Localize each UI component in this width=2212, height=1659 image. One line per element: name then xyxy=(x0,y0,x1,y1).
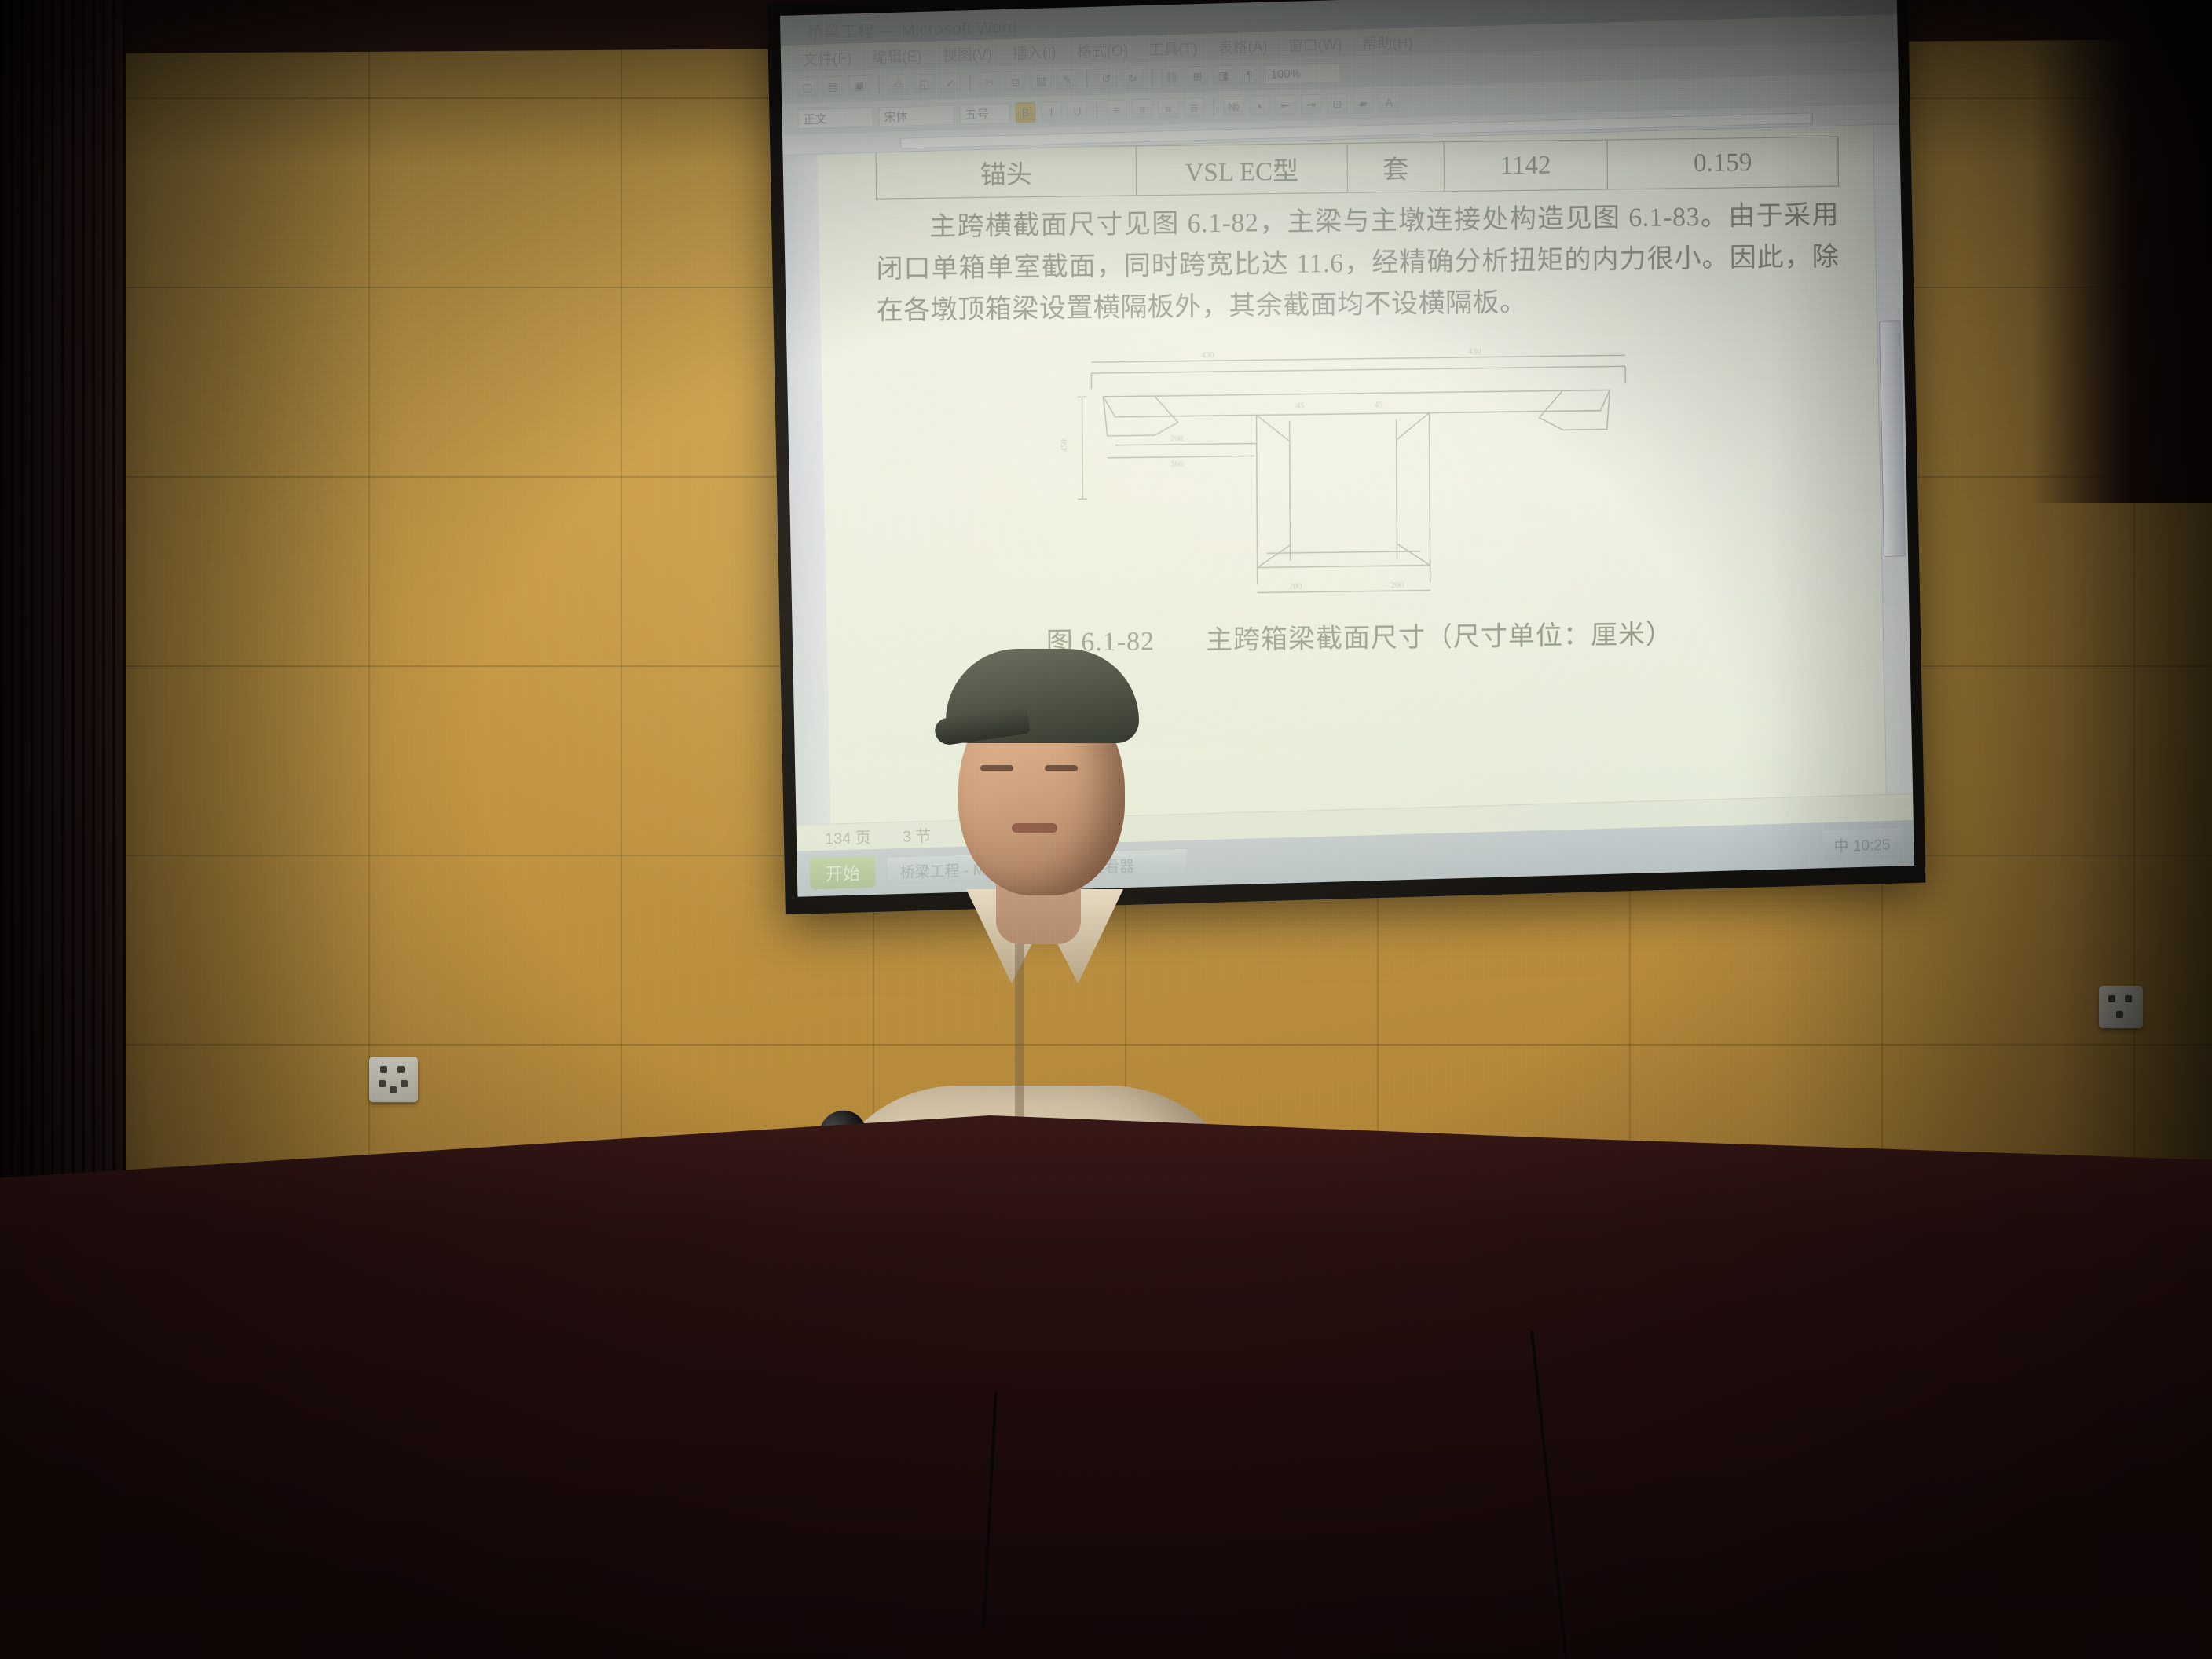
presenter-eye-right xyxy=(1045,765,1078,771)
paragraph-style-combo[interactable]: 正文 xyxy=(797,107,873,129)
numbered-list-icon[interactable]: № xyxy=(1223,96,1244,117)
box-girder-cross-section-figure: 430 430 200 360 200 200 450 45 45 xyxy=(944,333,1774,611)
caption-spacer xyxy=(1163,650,1199,650)
toolbar-separator-5 xyxy=(1096,102,1097,119)
menu-item-window[interactable]: 窗口(W) xyxy=(1287,32,1342,55)
toolbar-separator-6 xyxy=(1213,99,1214,116)
redo-icon[interactable]: ↻ xyxy=(1122,68,1143,89)
align-center-icon[interactable]: ≡ xyxy=(1132,99,1153,120)
svg-text:360: 360 xyxy=(1170,460,1184,469)
left-wood-pillar xyxy=(0,0,126,1257)
table-cell-item: 锚头 xyxy=(876,146,1136,199)
menu-item-tools[interactable]: 工具(T) xyxy=(1148,37,1198,60)
svg-text:430: 430 xyxy=(1201,350,1214,360)
menu-item-file[interactable]: 文件(F) xyxy=(803,46,852,69)
wall-outlet-left xyxy=(369,1057,418,1102)
svg-text:200: 200 xyxy=(1170,434,1184,444)
open-folder-icon[interactable]: ▤ xyxy=(823,76,844,97)
svg-text:450: 450 xyxy=(1060,439,1069,452)
menu-item-table[interactable]: 表格(A) xyxy=(1218,35,1268,57)
copy-icon[interactable]: ⧉ xyxy=(1005,71,1026,92)
presenter-eye-left xyxy=(980,765,1013,771)
justify-icon[interactable]: ≣ xyxy=(1184,97,1205,119)
print-preview-icon[interactable]: ◱ xyxy=(914,73,935,94)
menu-item-edit[interactable]: 编辑(E) xyxy=(872,44,922,67)
wall-outlet-right xyxy=(2099,986,2143,1028)
scrollbar-thumb[interactable] xyxy=(1879,320,1906,557)
wall-right-shadow xyxy=(2031,0,2212,503)
table-cell-unit: 套 xyxy=(1347,142,1444,193)
undo-icon[interactable]: ↺ xyxy=(1096,68,1117,90)
hyperlink-icon[interactable]: ⛓ xyxy=(1161,67,1182,88)
menu-item-view[interactable]: 视图(V) xyxy=(942,42,992,65)
status-section: 3 节 xyxy=(903,823,932,847)
word-application-window: 桥梁工程 — Microsoft Word 文件(F) 编辑(E) 视图(V) … xyxy=(780,0,1914,897)
svg-text:430: 430 xyxy=(1468,347,1481,357)
bulleted-list-icon[interactable]: • xyxy=(1249,96,1270,117)
table-cell-spec: VSL EC型 xyxy=(1136,143,1348,196)
box-girder-svg: 430 430 200 360 200 200 450 45 45 xyxy=(944,333,1774,611)
svg-text:45: 45 xyxy=(1295,401,1305,411)
show-formatting-icon[interactable]: ¶ xyxy=(1239,64,1260,86)
spellcheck-icon[interactable]: ✓ xyxy=(939,73,961,94)
toolbar-separator-2 xyxy=(969,74,970,91)
insert-table-icon[interactable]: ⊞ xyxy=(1187,66,1208,87)
toolbar-separator-3 xyxy=(1086,71,1087,88)
svg-text:200: 200 xyxy=(1390,580,1404,590)
print-icon[interactable]: ⎙ xyxy=(888,74,909,95)
table-cell-quantity: 1142 xyxy=(1444,140,1608,192)
document-paragraph: 主跨横截面尺寸见图 6.1-82，主梁与主墩连接处构造见图 6.1-83。由于采… xyxy=(876,195,1840,332)
bold-icon[interactable]: B xyxy=(1015,102,1036,123)
highlight-icon[interactable]: ▰ xyxy=(1353,93,1374,114)
font-size-combo[interactable]: 五号 xyxy=(959,103,1009,124)
presenter-mouth xyxy=(1012,823,1057,833)
cut-scissors-icon[interactable]: ✂ xyxy=(979,71,1000,93)
svg-text:200: 200 xyxy=(1289,582,1302,591)
status-page-number: 134 页 xyxy=(825,825,871,849)
italic-icon[interactable]: I xyxy=(1041,101,1062,123)
decrease-indent-icon[interactable]: ⇤ xyxy=(1275,95,1296,116)
toolbar-separator-4 xyxy=(1151,69,1152,86)
increase-indent-icon[interactable]: ⇥ xyxy=(1301,94,1322,115)
table-cell-value: 0.159 xyxy=(1607,137,1838,189)
new-document-icon[interactable]: ▢ xyxy=(797,77,819,98)
system-tray[interactable]: 中 10:25 xyxy=(1822,828,1902,860)
menu-item-insert[interactable]: 插入(I) xyxy=(1013,41,1057,64)
figure-caption-text: 主跨箱梁截面尺寸（尺寸单位：厘米） xyxy=(1206,621,1673,656)
align-left-icon[interactable]: ≡ xyxy=(1106,100,1127,121)
svg-text:45: 45 xyxy=(1374,400,1383,409)
drawing-icon[interactable]: ◨ xyxy=(1213,65,1234,86)
projection-screen-surface: 桥梁工程 — Microsoft Word 文件(F) 编辑(E) 视图(V) … xyxy=(780,0,1914,897)
paste-icon[interactable]: ▥ xyxy=(1031,70,1052,91)
format-painter-icon[interactable]: ✎ xyxy=(1057,69,1078,90)
scene-root: 桥梁工程 — Microsoft Word 文件(F) 编辑(E) 视图(V) … xyxy=(0,0,2212,1659)
font-family-combo[interactable]: 宋体 xyxy=(878,104,954,126)
projection-screen-frame: 桥梁工程 — Microsoft Word 文件(F) 编辑(E) 视图(V) … xyxy=(767,0,1926,914)
menu-item-format[interactable]: 格式(O) xyxy=(1076,38,1128,61)
zoom-level-combo[interactable]: 100% xyxy=(1265,63,1340,85)
save-disk-icon[interactable]: ▣ xyxy=(848,75,870,97)
toolbar-separator xyxy=(878,76,880,93)
underline-icon[interactable]: U xyxy=(1067,101,1088,122)
font-color-icon[interactable]: A xyxy=(1379,92,1400,113)
borders-icon[interactable]: ⊡ xyxy=(1327,93,1348,115)
align-right-icon[interactable]: ≡ xyxy=(1158,98,1179,119)
menu-item-help[interactable]: 帮助(H) xyxy=(1362,31,1413,53)
